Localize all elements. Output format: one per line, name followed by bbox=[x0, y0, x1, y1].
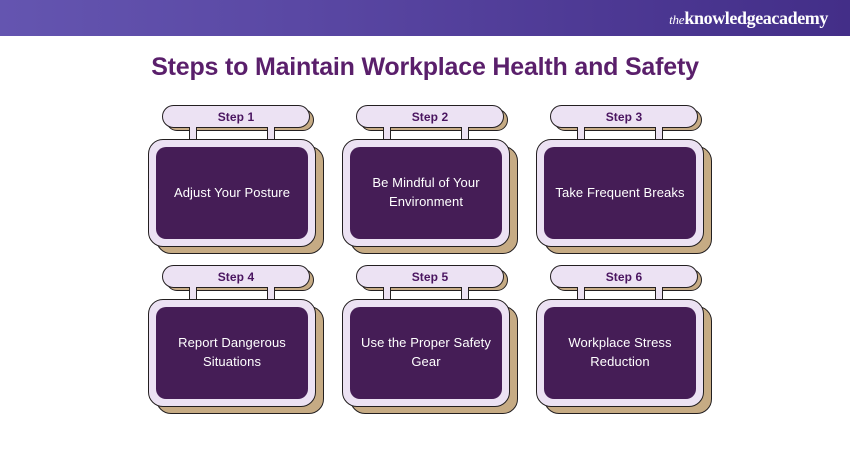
brand-logo[interactable]: theknowledgeacademy bbox=[669, 9, 828, 27]
step-card-outer: Adjust Your Posture bbox=[148, 139, 316, 247]
step-connectors bbox=[162, 288, 302, 299]
step-label-1: Step 1 bbox=[162, 105, 310, 128]
step-item-1[interactable]: Step 1 Adjust Your Posture bbox=[148, 105, 316, 247]
step-label-6: Step 6 bbox=[550, 265, 698, 288]
step-label-2: Step 2 bbox=[356, 105, 504, 128]
step-item-6[interactable]: Step 6 Workplace Stress Reduction bbox=[536, 265, 704, 407]
step-card-inner: Take Frequent Breaks bbox=[544, 147, 696, 239]
step-row-2: Step 4 Report Dangerous Situations bbox=[148, 265, 704, 407]
step-card-outer: Be Mindful of Your Environment bbox=[342, 139, 510, 247]
step-card-outer: Take Frequent Breaks bbox=[536, 139, 704, 247]
step-item-4[interactable]: Step 4 Report Dangerous Situations bbox=[148, 265, 316, 407]
step-connectors bbox=[550, 288, 690, 299]
step-label-5: Step 5 bbox=[356, 265, 504, 288]
header-bar: theknowledgeacademy bbox=[0, 0, 850, 36]
step-label-text: Step 3 bbox=[606, 111, 643, 123]
step-label-pill: Step 1 bbox=[162, 105, 310, 128]
step-card-inner: Workplace Stress Reduction bbox=[544, 307, 696, 399]
step-card-text: Report Dangerous Situations bbox=[166, 334, 298, 372]
step-label-3: Step 3 bbox=[550, 105, 698, 128]
step-label-pill: Step 4 bbox=[162, 265, 310, 288]
step-card-text: Workplace Stress Reduction bbox=[554, 334, 686, 372]
step-label-pill: Step 5 bbox=[356, 265, 504, 288]
step-item-3[interactable]: Step 3 Take Frequent Breaks bbox=[536, 105, 704, 247]
brand-logo-prefix: the bbox=[669, 13, 684, 26]
step-connectors bbox=[550, 128, 690, 139]
step-card-3[interactable]: Take Frequent Breaks bbox=[536, 139, 704, 247]
step-label-pill: Step 2 bbox=[356, 105, 504, 128]
step-label-text: Step 4 bbox=[218, 271, 255, 283]
step-item-5[interactable]: Step 5 Use the Proper Safety Gear bbox=[342, 265, 510, 407]
step-label-pill: Step 6 bbox=[550, 265, 698, 288]
step-card-text: Adjust Your Posture bbox=[174, 184, 290, 203]
step-card-inner: Be Mindful of Your Environment bbox=[350, 147, 502, 239]
step-card-outer: Workplace Stress Reduction bbox=[536, 299, 704, 407]
step-label-text: Step 5 bbox=[412, 271, 449, 283]
step-row-1: Step 1 Adjust Your Posture Step bbox=[148, 105, 704, 247]
step-connectors bbox=[356, 128, 496, 139]
step-card-outer: Report Dangerous Situations bbox=[148, 299, 316, 407]
step-label-text: Step 1 bbox=[218, 111, 255, 123]
step-card-inner: Adjust Your Posture bbox=[156, 147, 308, 239]
step-card-1[interactable]: Adjust Your Posture bbox=[148, 139, 316, 247]
steps-grid: Step 1 Adjust Your Posture Step bbox=[148, 105, 704, 407]
step-label-text: Step 2 bbox=[412, 111, 449, 123]
step-label-pill: Step 3 bbox=[550, 105, 698, 128]
step-card-4[interactable]: Report Dangerous Situations bbox=[148, 299, 316, 407]
brand-logo-name: knowledgeacademy bbox=[684, 9, 828, 27]
step-connectors bbox=[162, 128, 302, 139]
step-card-outer: Use the Proper Safety Gear bbox=[342, 299, 510, 407]
step-label-4: Step 4 bbox=[162, 265, 310, 288]
step-card-text: Be Mindful of Your Environment bbox=[360, 174, 492, 212]
step-label-text: Step 6 bbox=[606, 271, 643, 283]
step-card-2[interactable]: Be Mindful of Your Environment bbox=[342, 139, 510, 247]
step-item-2[interactable]: Step 2 Be Mindful of Your Environment bbox=[342, 105, 510, 247]
step-card-text: Use the Proper Safety Gear bbox=[360, 334, 492, 372]
step-card-6[interactable]: Workplace Stress Reduction bbox=[536, 299, 704, 407]
step-card-text: Take Frequent Breaks bbox=[555, 184, 684, 203]
step-card-inner: Report Dangerous Situations bbox=[156, 307, 308, 399]
step-card-inner: Use the Proper Safety Gear bbox=[350, 307, 502, 399]
step-connectors bbox=[356, 288, 496, 299]
page-title: Steps to Maintain Workplace Health and S… bbox=[0, 53, 850, 82]
step-card-5[interactable]: Use the Proper Safety Gear bbox=[342, 299, 510, 407]
